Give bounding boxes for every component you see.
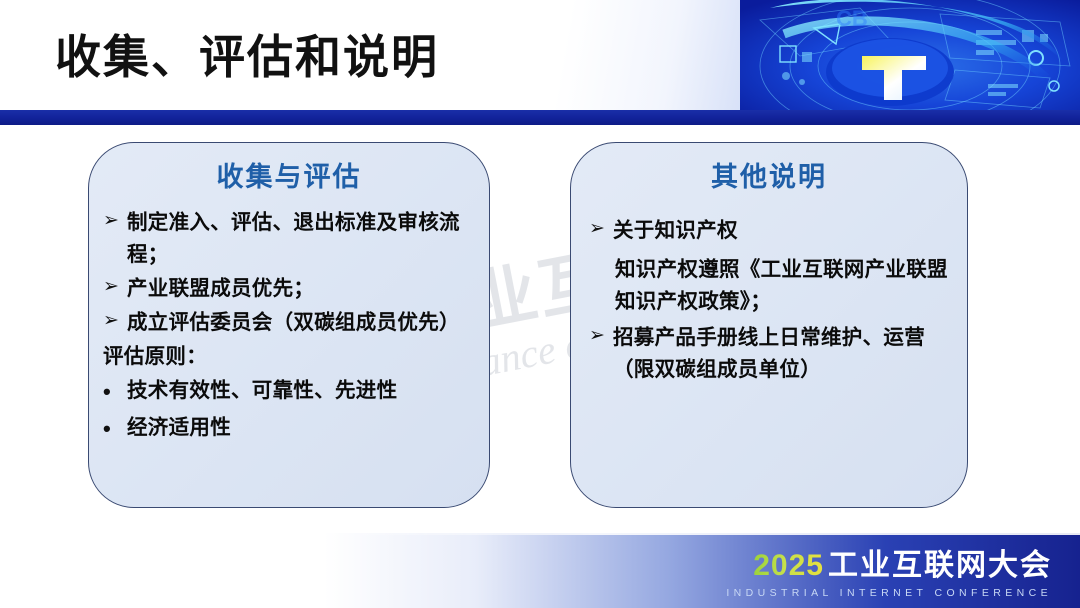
list-item: ➢ 关于知识产权 bbox=[589, 215, 951, 247]
conference-logo: 2025 工业互联网大会 INDUSTRIAL INTERNET CONFERE… bbox=[726, 551, 1052, 599]
list-item: ➢ 制定准入、评估、退出标准及审核流程； bbox=[103, 207, 473, 269]
arrow-bullet-icon: ➢ bbox=[103, 273, 127, 302]
panel-collection-evaluation: 收集与评估 ➢ 制定准入、评估、退出标准及审核流程； ➢ 产业联盟成员优先； ➢… bbox=[88, 142, 490, 508]
footer-highlight-line bbox=[330, 533, 1080, 535]
tech-circuit-graphic-icon: CB bbox=[740, 0, 1080, 112]
dot-bullet-icon: • bbox=[103, 375, 127, 408]
list-item-text: 关于知识产权 bbox=[613, 215, 951, 247]
panel-left-body: ➢ 制定准入、评估、退出标准及审核流程； ➢ 产业联盟成员优先； ➢ 成立评估委… bbox=[89, 193, 489, 445]
list-item: ➢ 产业联盟成员优先； bbox=[103, 273, 473, 304]
list-item: • 经济适用性 bbox=[103, 412, 473, 445]
list-item-text: 技术有效性、可靠性、先进性 bbox=[127, 375, 473, 406]
panel-left-title: 收集与评估 bbox=[89, 161, 489, 193]
list-item-text: 经济适用性 bbox=[127, 412, 473, 443]
arrow-bullet-icon: ➢ bbox=[103, 207, 127, 236]
svg-text:CB: CB bbox=[836, 6, 868, 31]
title-divider-bar bbox=[0, 110, 1080, 125]
panel-right-body: ➢ 关于知识产权 知识产权遵照《工业互联网产业联盟知识产权政策》； ➢ 招募产品… bbox=[571, 193, 967, 386]
panel-right-title: 其他说明 bbox=[571, 161, 967, 193]
arrow-bullet-icon: ➢ bbox=[589, 215, 613, 244]
arrow-bullet-icon: ➢ bbox=[103, 307, 127, 336]
dot-bullet-icon: • bbox=[103, 412, 127, 445]
list-item-text: 评估原则： bbox=[103, 341, 473, 372]
list-item-text: 制定准入、评估、退出标准及审核流程； bbox=[127, 207, 473, 269]
list-item-text: 产业联盟成员优先； bbox=[127, 273, 473, 304]
list-item-text: 成立评估委员会（双碳组成员优先） bbox=[127, 307, 473, 338]
list-item: ➢ 招募产品手册线上日常维护、运营（限双碳组成员单位） bbox=[589, 322, 951, 387]
list-item-heading: 评估原则： bbox=[103, 341, 473, 372]
list-item-text: 招募产品手册线上日常维护、运营（限双碳组成员单位） bbox=[613, 322, 951, 387]
list-item-subtext: 知识产权遵照《工业互联网产业联盟知识产权政策》； bbox=[589, 254, 951, 319]
panel-other-notes: 其他说明 ➢ 关于知识产权 知识产权遵照《工业互联网产业联盟知识产权政策》； ➢… bbox=[570, 142, 968, 508]
slide-header: CB 收集、评估和说明 bbox=[0, 0, 1080, 112]
arrow-bullet-icon: ➢ bbox=[589, 322, 613, 351]
conference-name-cn: 工业互联网大会 bbox=[828, 551, 1052, 581]
conference-year: 2025 bbox=[753, 551, 824, 581]
slide-root: CB 收集、评估和说明 bbox=[0, 0, 1080, 608]
conference-name-en: INDUSTRIAL INTERNET CONFERENCE bbox=[726, 587, 1052, 599]
page-title: 收集、评估和说明 bbox=[55, 34, 439, 80]
list-item: • 技术有效性、可靠性、先进性 bbox=[103, 375, 473, 408]
list-item: ➢ 成立评估委员会（双碳组成员优先） bbox=[103, 307, 473, 338]
